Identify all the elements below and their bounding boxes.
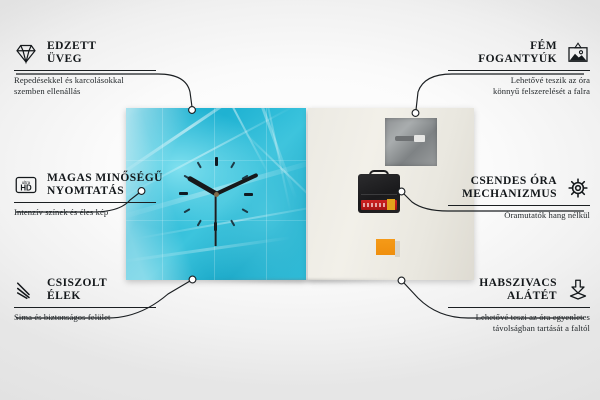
feature-polished-edges: CSISZOLT ÉLEK Sima és biztonságos felüle… — [14, 277, 214, 323]
feature-description: Sima és biztonságos felület — [14, 312, 214, 323]
battery-label — [363, 203, 387, 207]
feature-heading: CSISZOLT ÉLEK — [14, 277, 214, 303]
svg-text:HD: HD — [20, 183, 32, 192]
feature-title: EDZETT ÜVEG — [47, 40, 96, 66]
clock-second-hand — [215, 194, 217, 246]
gear-icon — [566, 176, 590, 200]
feature-title: CSISZOLT ÉLEK — [47, 277, 107, 303]
feature-heading: EDZETT ÜVEG — [14, 40, 214, 66]
picture-hanger-icon — [566, 41, 590, 65]
feature-description: Repedésekkel és karcolásokkal szemben el… — [14, 75, 214, 97]
feature-silent-mechanism: CSENDES ÓRA MECHANIZMUS Óramutatók hang … — [390, 175, 590, 221]
feature-heading: CSENDES ÓRA MECHANIZMUS — [390, 175, 590, 201]
feature-high-quality-print: ultra HD MAGAS MINŐSÉGŰ NYOMTATÁS Intenz… — [14, 172, 214, 218]
feature-heading: ultra HD MAGAS MINŐSÉGŰ NYOMTATÁS — [14, 172, 214, 198]
feature-divider — [448, 70, 590, 71]
feature-divider — [448, 307, 590, 308]
foam-pad-side — [395, 241, 400, 257]
feature-foam-pad: HABSZIVACS ALÁTÉT Lehetővé teszi az óra … — [390, 277, 590, 334]
feature-divider — [14, 307, 156, 308]
infographic-canvas: EDZETT ÜVEG Repedésekkel és karcolásokka… — [0, 0, 600, 400]
feature-tempered-glass: EDZETT ÜVEG Repedésekkel és karcolásokka… — [14, 40, 214, 97]
foam-pad — [376, 239, 395, 255]
feature-divider — [14, 202, 156, 203]
feature-metal-handles: FÉM FOGANTYÚK Lehetővé teszik az óra kön… — [390, 40, 590, 97]
feature-divider — [448, 205, 590, 206]
feature-description: Intenzív színek és éles kép — [14, 207, 214, 218]
polished-edges-icon — [14, 278, 38, 302]
feature-description: Lehetővé teszi az óra egyenletes távolsá… — [390, 312, 590, 334]
clock-tick-bar — [197, 161, 202, 168]
feature-title: FÉM FOGANTYÚK — [478, 40, 557, 66]
clock-center-hub — [214, 192, 219, 197]
ultra-hd-icon: ultra HD — [14, 173, 38, 197]
feature-divider — [14, 70, 156, 71]
face-grid-line — [266, 108, 267, 280]
diamond-icon — [14, 41, 38, 65]
foam-pad-arrow-icon — [566, 278, 590, 302]
feature-heading: HABSZIVACS ALÁTÉT — [390, 277, 590, 303]
face-streak — [126, 108, 265, 179]
face-streak — [199, 108, 271, 178]
feature-description: Lehetővé teszik az óra könnyű felszerelé… — [390, 75, 590, 97]
feature-heading: FÉM FOGANTYÚK — [390, 40, 590, 66]
feature-description: Óramutatók hang nélkül — [390, 210, 590, 221]
hanger-slot — [395, 136, 425, 141]
feature-title: MAGAS MINŐSÉGŰ NYOMTATÁS — [47, 172, 163, 198]
feature-title: HABSZIVACS ALÁTÉT — [479, 277, 557, 303]
metal-hanger — [385, 118, 437, 166]
feature-title: CSENDES ÓRA MECHANIZMUS — [462, 175, 557, 201]
